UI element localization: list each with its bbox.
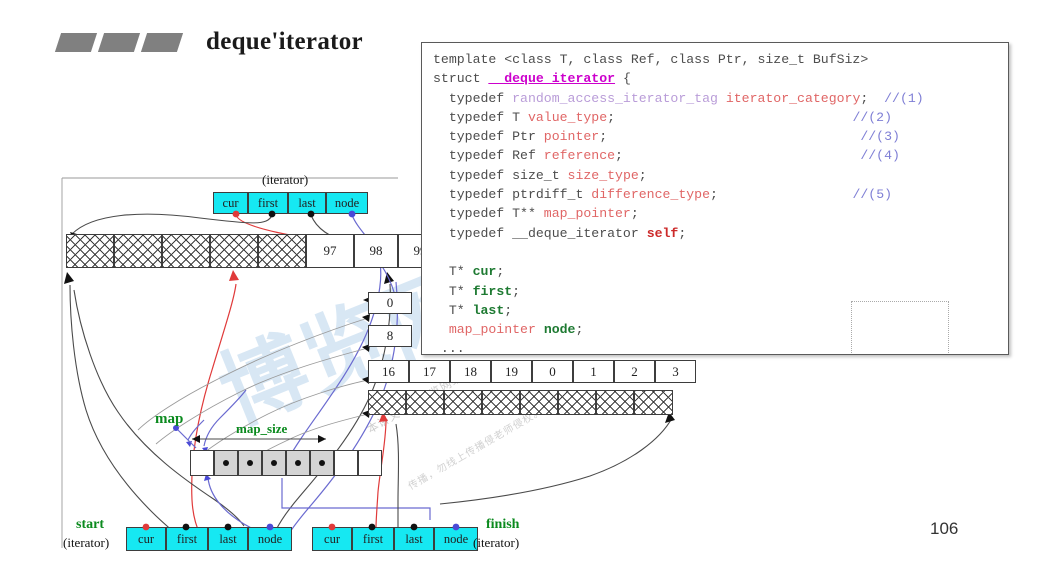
code-listing: template <class T, class Ref, class Ptr,… <box>433 50 924 355</box>
page-number: 106 <box>930 519 958 539</box>
slide: deque'iterator 博览网 本讲义仅供博览网线上 传播，勿线上传播侵老… <box>0 0 1038 563</box>
code-panel: template <class T, class Ref, class Ptr,… <box>421 42 1009 355</box>
